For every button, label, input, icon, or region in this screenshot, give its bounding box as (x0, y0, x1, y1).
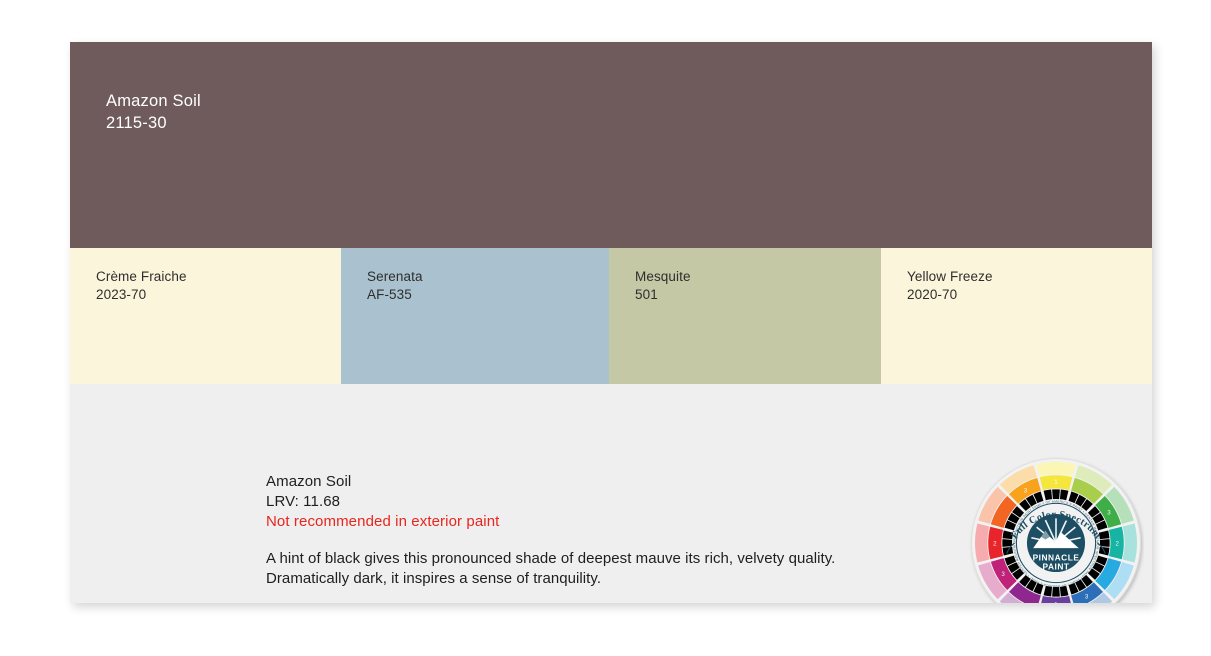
wheel-segment-label: 3 (1107, 510, 1111, 517)
hero-color-block: Amazon Soil 2115-30 (70, 42, 1152, 248)
swatch-color-name: Mesquite (635, 268, 881, 286)
wheel-segment[interactable] (1123, 524, 1137, 563)
wheel-segment-label: 3 (1085, 593, 1089, 600)
details-text-block: Amazon Soil LRV: 11.68 Not recommended i… (266, 472, 926, 589)
swatch-color-name: Yellow Freeze (907, 268, 1152, 286)
details-color-name: Amazon Soil (266, 472, 926, 492)
coordinating-swatch[interactable]: Yellow Freeze2020-70 (881, 248, 1152, 384)
swatch-color-code: AF-535 (367, 286, 609, 304)
swatch-color-name: Crème Fraiche (96, 268, 341, 286)
wheel-segment[interactable] (1052, 587, 1060, 597)
coordinating-swatch[interactable]: SerenataAF-535 (341, 248, 609, 384)
swatch-color-code: 2023-70 (96, 286, 341, 304)
wheel-segment[interactable] (1052, 489, 1060, 499)
wheel-segment[interactable] (1037, 462, 1076, 476)
wheel-segment-label: 2 (1115, 540, 1119, 547)
coordinating-swatch[interactable]: Crème Fraiche2023-70 (70, 248, 341, 384)
swatch-color-code: 501 (635, 286, 881, 304)
wheel-segment-label: 3 (1024, 487, 1028, 494)
wheel-segment-label: 2 (993, 540, 997, 547)
svg-text:PAINT: PAINT (1042, 561, 1069, 571)
color-wheel-icon: 13231323 PINN (968, 455, 1144, 603)
details-lrv: LRV: 11.68 (266, 492, 926, 512)
wheel-segment-label: 1 (1054, 601, 1058, 603)
wheel-segment-label: 1 (1054, 479, 1058, 486)
coordinating-swatch[interactable]: Mesquite501 (609, 248, 881, 384)
details-description: A hint of black gives this pronounced sh… (266, 549, 911, 589)
coordinating-colors-strip: Crème Fraiche2023-70SerenataAF-535Mesqui… (70, 248, 1152, 384)
swatch-color-code: 2020-70 (907, 286, 1152, 304)
wheel-segment[interactable] (1002, 539, 1012, 547)
swatch-color-name: Serenata (367, 268, 609, 286)
wheel-segment[interactable] (1100, 539, 1110, 547)
details-panel: Amazon Soil LRV: 11.68 Not recommended i… (70, 384, 1152, 603)
exterior-warning: Not recommended in exterior paint (266, 512, 926, 532)
wheel-segment[interactable] (975, 524, 989, 563)
paint-color-card: Amazon Soil 2115-30 Crème Fraiche2023-70… (70, 42, 1152, 603)
hero-color-name: Amazon Soil (106, 90, 1152, 112)
hero-color-code: 2115-30 (106, 112, 1152, 134)
wheel-segment-label: 3 (1001, 571, 1005, 578)
